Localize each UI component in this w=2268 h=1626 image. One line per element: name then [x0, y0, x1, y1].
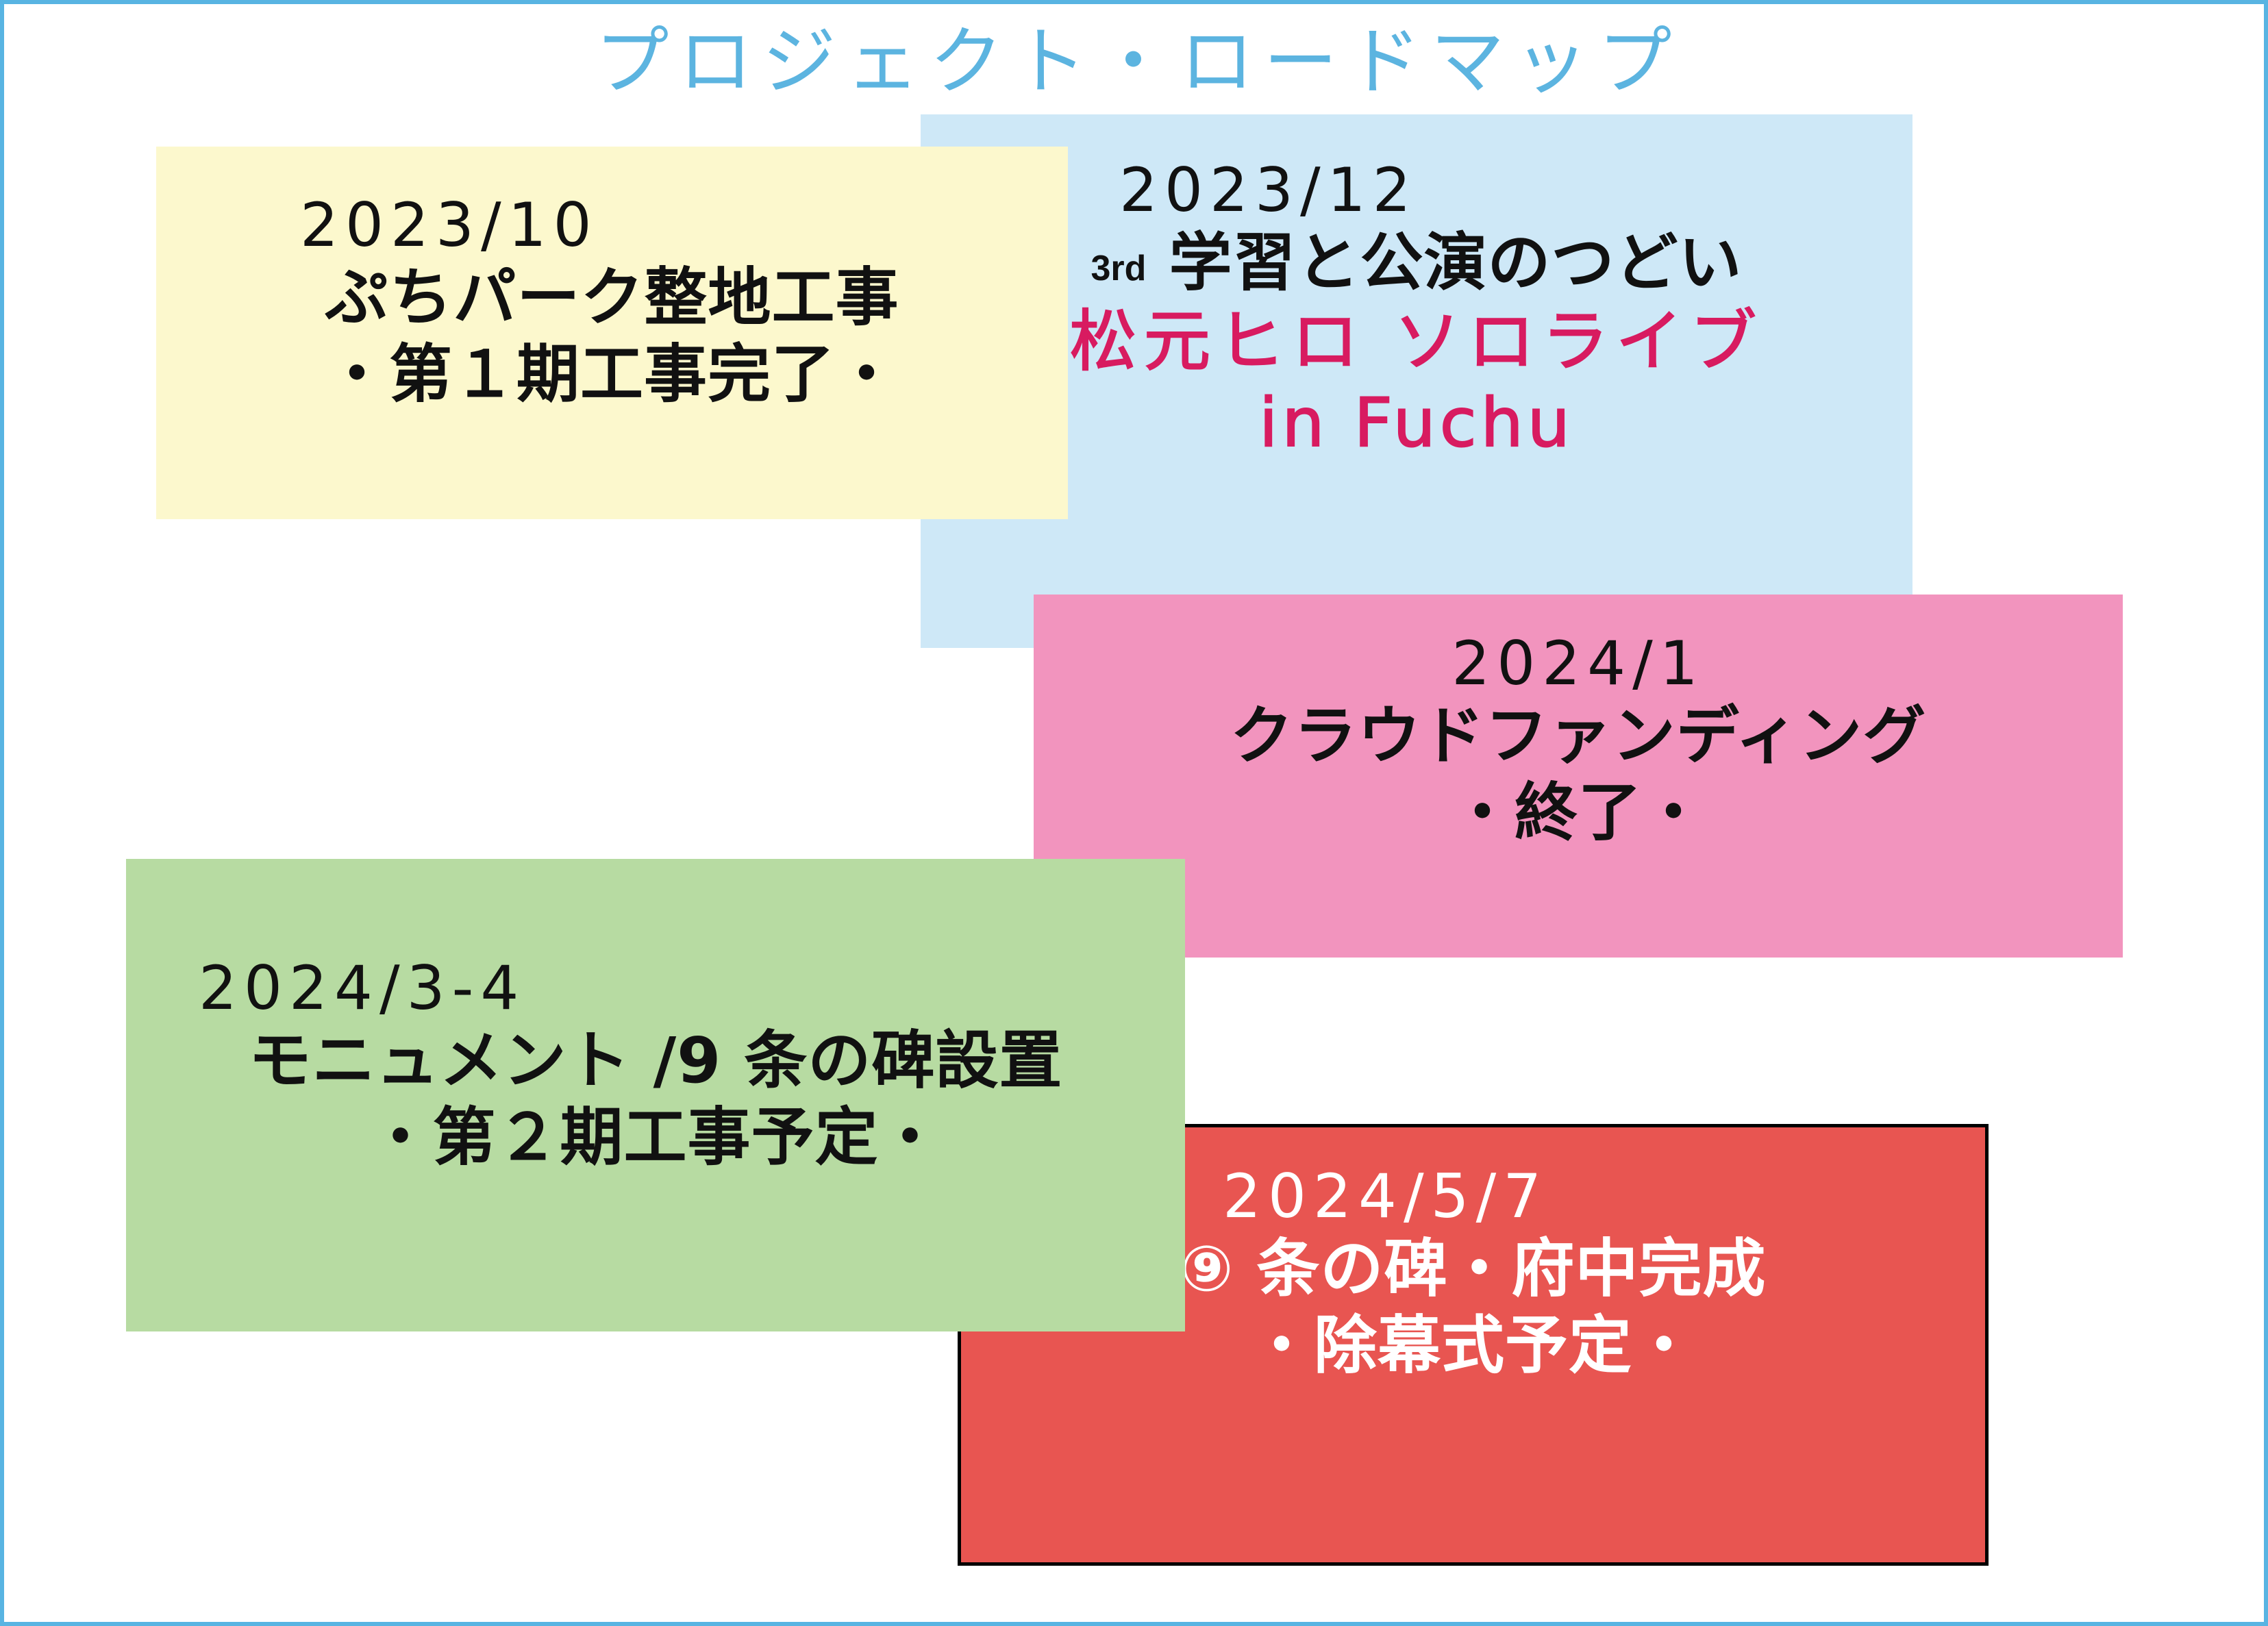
- milestone-date: 2024/3-4: [142, 955, 1169, 1023]
- milestone-venue: in Fuchu: [940, 383, 1893, 465]
- milestone-line-1-text: 学習と公演のつどい: [1169, 226, 1742, 299]
- milestone-card-2024-01[interactable]: 2024/1 クラウドファンディング ・終了・: [1034, 595, 2123, 958]
- page-title: プロジェクト・ロードマップ: [4, 18, 2268, 107]
- milestone-date: 2023/12: [940, 157, 1893, 225]
- card-content: 2023/10 ぷちパーク整地工事 ・第１期工事完了・: [156, 192, 1068, 413]
- card-content: 2024/1 クラウドファンディング ・終了・: [1034, 630, 2123, 851]
- milestone-date: 2024/1: [1057, 630, 2099, 698]
- milestone-card-2023-10[interactable]: 2023/10 ぷちパーク整地工事 ・第１期工事完了・: [156, 147, 1068, 519]
- milestone-card-2023-12[interactable]: 2023/12 3rd 学習と公演のつどい 松元ヒロ ソロライブ in Fuch…: [921, 114, 1912, 648]
- milestone-line-1: 3rd 学習と公演のつどい: [940, 225, 1893, 301]
- milestone-line-1: モニュメント /9 条の碑設置: [142, 1023, 1169, 1099]
- milestone-card-2024-03-04[interactable]: 2024/3-4 モニュメント /9 条の碑設置 ・第２期工事予定・: [126, 859, 1185, 1331]
- milestone-line-1: クラウドファンディング: [1057, 698, 2099, 775]
- milestone-date: 2023/10: [179, 192, 1045, 260]
- milestone-line-2: ・終了・: [1057, 775, 2099, 851]
- milestone-line-2: ・第１期工事完了・: [179, 336, 1045, 413]
- milestone-line-1: ぷちパーク整地工事: [179, 260, 1045, 336]
- milestone-artist: 松元ヒロ ソロライブ: [940, 301, 1893, 384]
- card-content: 2024/3-4 モニュメント /9 条の碑設置 ・第２期工事予定・: [126, 955, 1185, 1176]
- card-content: 2023/12 3rd 学習と公演のつどい 松元ヒロ ソロライブ in Fuch…: [921, 157, 1912, 465]
- roadmap-canvas: プロジェクト・ロードマップ 2023/10 ぷちパーク整地工事 ・第１期工事完了…: [0, 0, 2268, 1626]
- milestone-line-2: ・第２期工事予定・: [142, 1099, 1169, 1176]
- ordinal-label: 3rd: [1091, 249, 1147, 288]
